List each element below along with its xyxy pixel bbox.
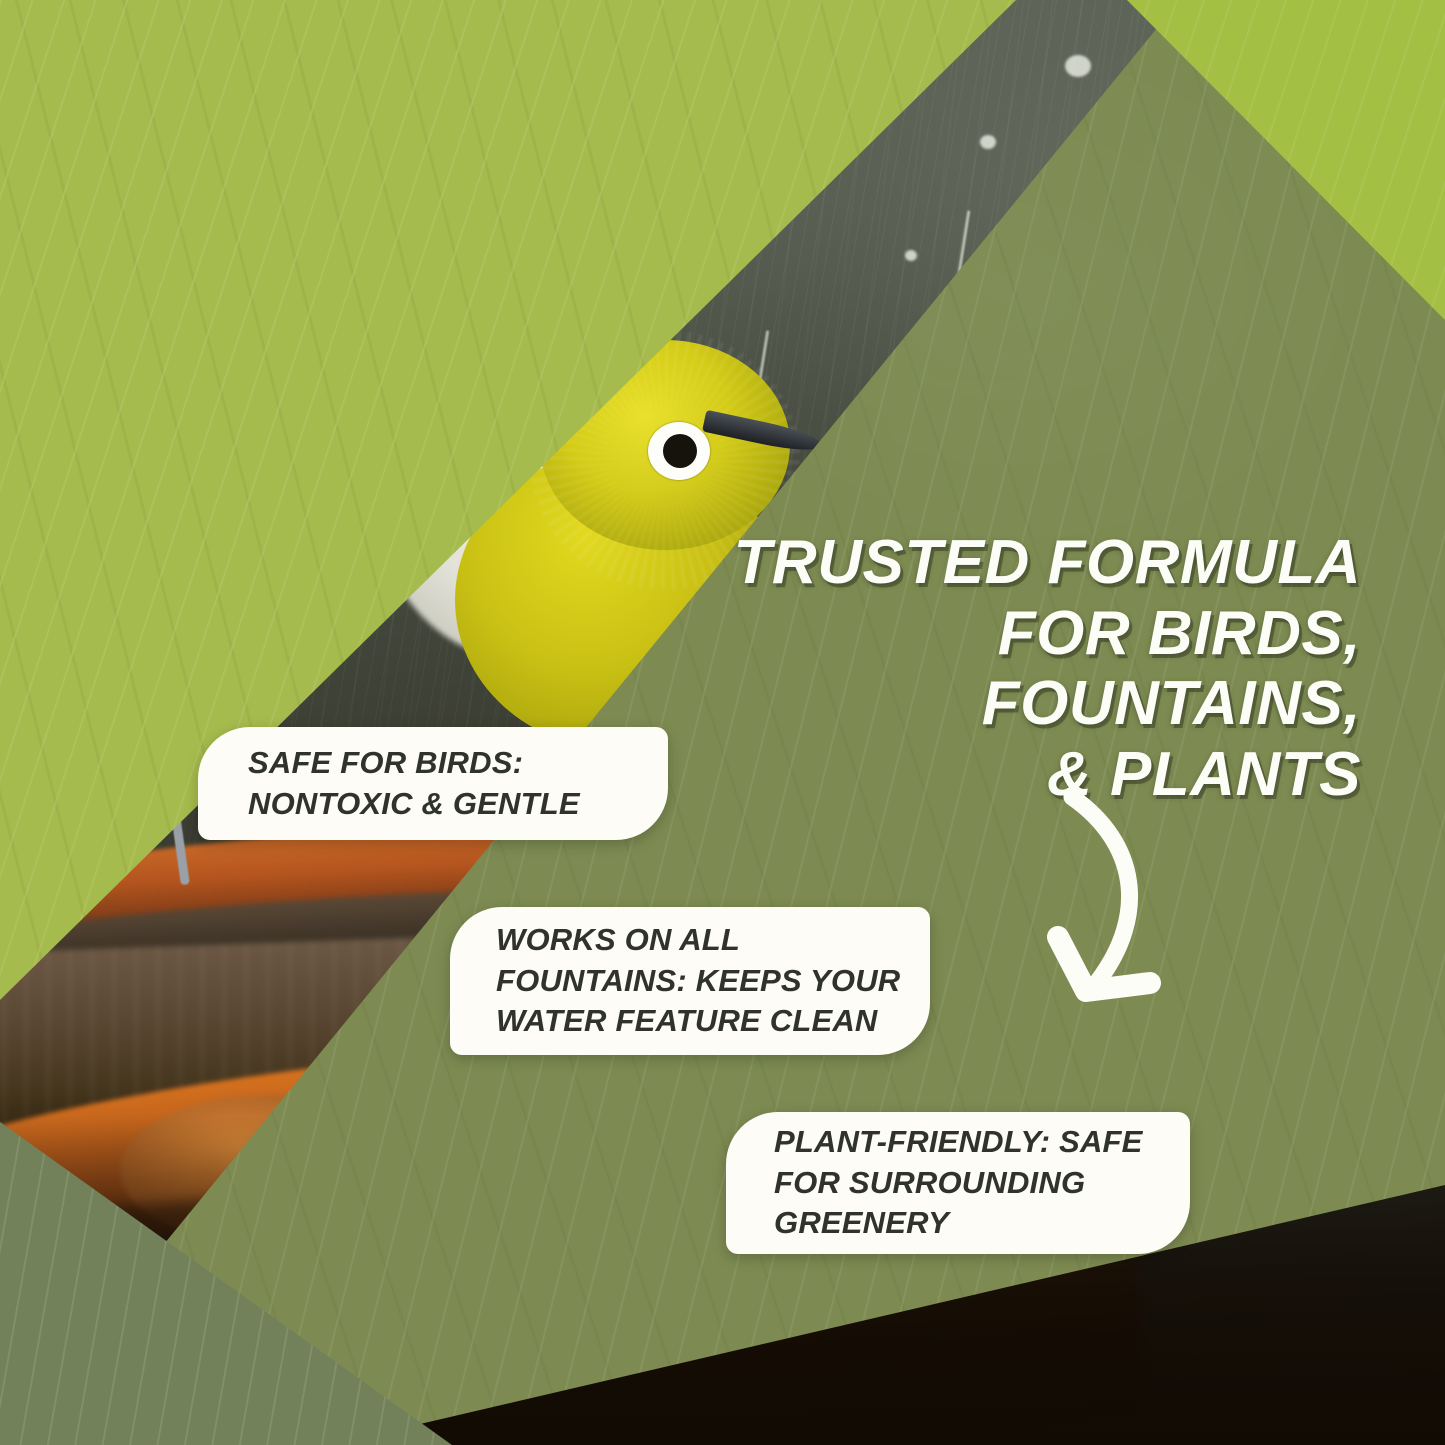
raindrop xyxy=(1065,55,1091,77)
marketing-poster: TRUSTED FORMULA FOR BIRDS, FOUNTAINS, & … xyxy=(0,0,1445,1445)
callout-plant-friendly: PLANT-FRIENDLY: SAFE FOR SURROUNDING GRE… xyxy=(726,1112,1190,1254)
page-title: TRUSTED FORMULA FOR BIRDS, FOUNTAINS, & … xyxy=(601,528,1361,811)
raindrop xyxy=(980,135,996,149)
bird-pupil xyxy=(663,434,697,468)
curved-down-arrow-icon xyxy=(1020,785,1220,1020)
raindrop xyxy=(905,250,917,261)
callout-safe-for-birds: SAFE FOR BIRDS: NONTOXIC & GENTLE xyxy=(198,727,668,840)
callout-works-on-all-fountains: WORKS ON ALL FOUNTAINS: KEEPS YOUR WATER… xyxy=(450,907,930,1055)
